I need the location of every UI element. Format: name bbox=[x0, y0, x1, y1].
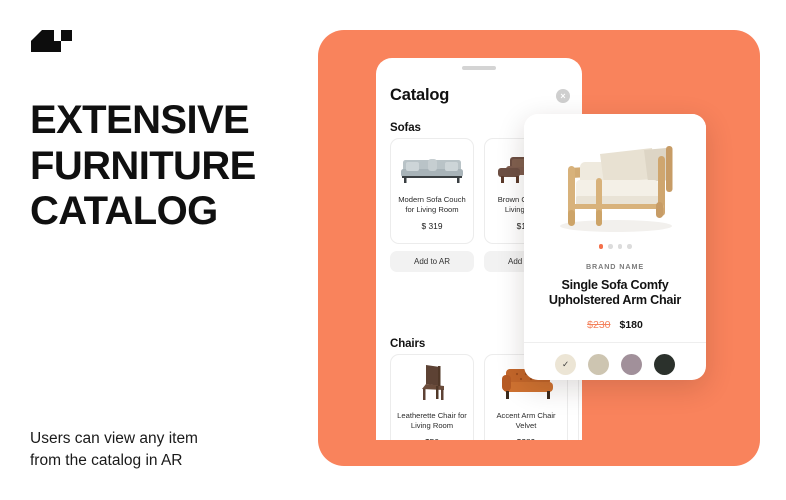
brand-label: BRAND NAME bbox=[524, 262, 706, 271]
page-title: EXTENSIVE FURNITURE CATALOG bbox=[30, 98, 290, 235]
detail-product-title: Single Sofa Comfy Upholstered Arm Chair bbox=[524, 278, 706, 310]
wooden-dining-chair-icon bbox=[396, 362, 468, 404]
color-swatch-charcoal[interactable] bbox=[654, 354, 675, 375]
product-name: Accent Arm Chair Velvet bbox=[491, 411, 561, 432]
check-icon: ✓ bbox=[562, 360, 569, 369]
product-price: $ 319 bbox=[397, 221, 467, 231]
sale-price: $180 bbox=[620, 319, 643, 331]
left-content-panel: EXTENSIVE FURNITURE CATALOG Users can vi… bbox=[0, 0, 300, 500]
carousel-dot-4[interactable] bbox=[627, 244, 632, 249]
original-price: $230 bbox=[587, 319, 610, 331]
color-swatch-mauve[interactable] bbox=[621, 354, 642, 375]
caption-text: Users can view any item from the catalog… bbox=[30, 428, 280, 472]
headline-line-1: EXTENSIVE bbox=[30, 98, 290, 144]
price-row: $230 $180 bbox=[524, 319, 706, 331]
catalog-title: Catalog bbox=[390, 86, 449, 105]
product-card[interactable]: Leatherette Chair for Living Room $50 Ad… bbox=[390, 354, 474, 440]
headline-line-3: CATALOG bbox=[30, 189, 290, 235]
carousel-dot-3[interactable] bbox=[618, 244, 623, 249]
product-card-body[interactable]: Leatherette Chair for Living Room $50 bbox=[390, 354, 474, 440]
poster-canvas: EXTENSIVE FURNITURE CATALOG Users can vi… bbox=[0, 0, 786, 500]
divider bbox=[524, 342, 706, 343]
color-swatch-group[interactable]: ✓ bbox=[524, 354, 706, 375]
product-name: Modern Sofa Couch for Living Room bbox=[397, 195, 467, 216]
cream-wooden-armchair-icon bbox=[524, 114, 706, 242]
product-name: Leatherette Chair for Living Room bbox=[397, 411, 467, 432]
add-to-ar-button[interactable]: Add to AR bbox=[390, 251, 474, 272]
product-card-body[interactable]: Modern Sofa Couch for Living Room $ 319 bbox=[390, 138, 474, 244]
product-price: $50 bbox=[397, 437, 467, 441]
section-title-chairs: Chairs bbox=[390, 338, 425, 350]
product-price: $289 bbox=[491, 437, 561, 441]
grey-sofa-icon bbox=[396, 146, 468, 188]
drag-handle-icon[interactable] bbox=[462, 66, 496, 70]
caption-line-1: Users can view any item bbox=[30, 428, 280, 450]
close-icon[interactable]: × bbox=[556, 89, 570, 103]
carousel-dot-1[interactable] bbox=[599, 244, 604, 249]
product-detail-card: BRAND NAME Single Sofa Comfy Upholstered… bbox=[524, 114, 706, 380]
section-title-sofas: Sofas bbox=[390, 122, 421, 134]
headline-line-2: FURNITURE bbox=[30, 144, 290, 190]
color-swatch-beige[interactable] bbox=[588, 354, 609, 375]
product-card[interactable]: Modern Sofa Couch for Living Room $ 319 … bbox=[390, 138, 474, 272]
caption-line-2: from the catalog in AR bbox=[30, 450, 280, 472]
brand-logo-icon bbox=[28, 28, 74, 62]
color-swatch-ivory[interactable]: ✓ bbox=[555, 354, 576, 375]
carousel-dot-2[interactable] bbox=[608, 244, 613, 249]
carousel-dots[interactable] bbox=[524, 244, 706, 249]
